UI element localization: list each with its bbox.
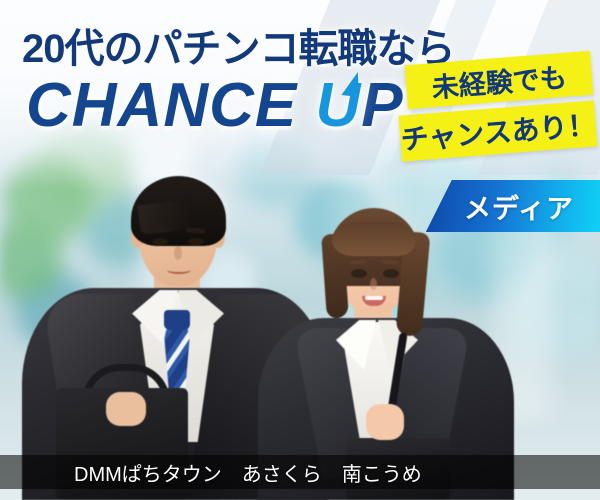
man-hair: [131, 176, 226, 246]
woman-nose: [370, 278, 377, 290]
promo-banner[interactable]: 20代のパチンコ転職なら CHANCE UP 未経験でも チャンスあり！ メーカ…: [0, 0, 600, 500]
man-mouth: [167, 266, 191, 274]
badge-line-2: チャンスあり！: [398, 100, 597, 161]
badge-line-1: 未経験でも: [405, 51, 594, 109]
logo-letter-u: U: [315, 70, 361, 141]
man-tie-knot: [164, 310, 190, 330]
logo-text-chance: CHANCE: [26, 71, 315, 140]
credit-bar: DMMぱちタウン あさくら 南こうめ: [0, 455, 600, 489]
man-eye-left: [152, 238, 168, 245]
woman-bangs: [332, 222, 416, 256]
yellow-badge: 未経験でも チャンスあり！: [396, 56, 596, 160]
tag-media[interactable]: メディア: [426, 180, 600, 232]
credit-text: DMMぱちタウン あさくら 南こうめ: [0, 458, 422, 487]
woman-hand: [366, 404, 404, 440]
woman-eye-left: [351, 269, 367, 278]
man-eye-right: [188, 238, 204, 245]
woman-eye-right: [383, 269, 399, 278]
man-hand: [106, 392, 146, 426]
chance-up-logo: CHANCE UP: [26, 70, 404, 141]
man-nose: [174, 246, 182, 260]
tag-media-label: メディア: [426, 187, 600, 226]
headline-text: 20代のパチンコ転職なら: [22, 16, 455, 74]
